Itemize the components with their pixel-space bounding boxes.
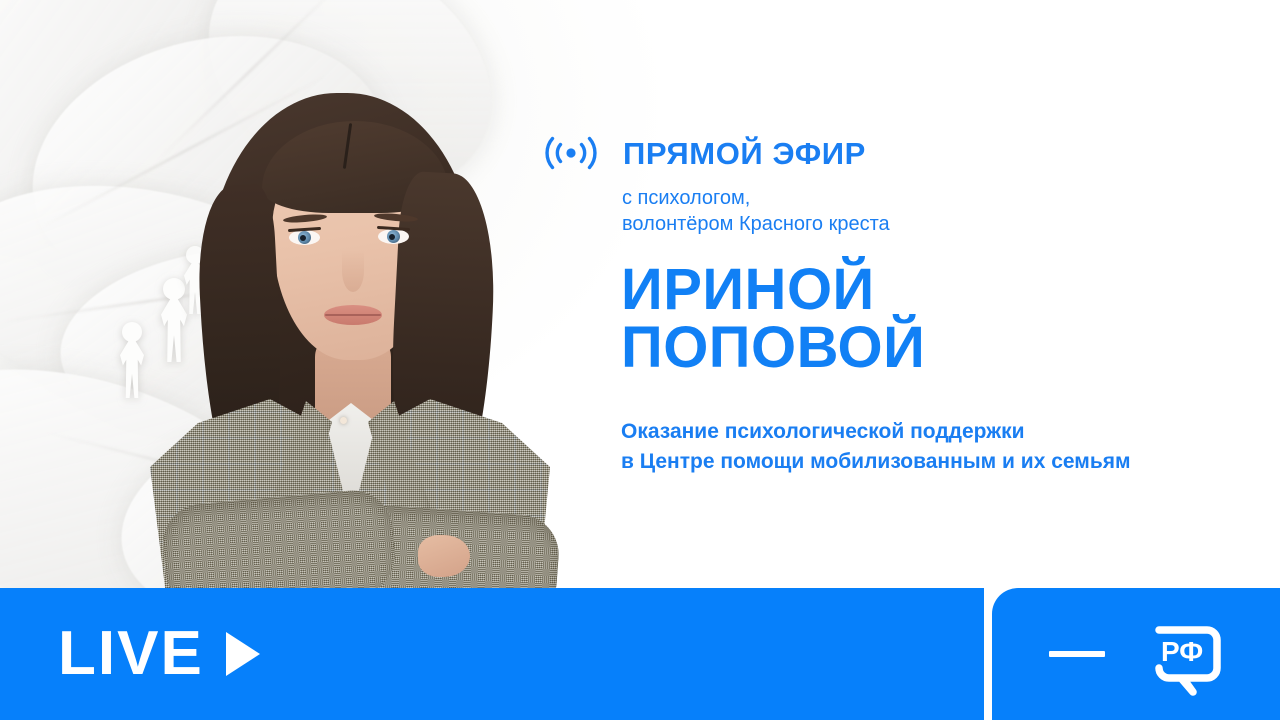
paper-figure-child	[122, 322, 142, 398]
play-triangle-icon[interactable]	[226, 632, 260, 676]
guest-role: с психологом, волонтёром Красного креста	[622, 185, 1263, 237]
guest-name-line-1: ИРИНОЙ	[621, 261, 1263, 319]
eye-left	[289, 230, 320, 245]
lip-line	[325, 314, 381, 316]
banner-divider	[984, 588, 992, 720]
event-description: Оказание психологической поддержки в Цен…	[621, 417, 1263, 477]
speech-bubble-rf-logo-icon: РФ	[1141, 606, 1237, 702]
hand	[418, 535, 470, 577]
logo-rf-text: РФ	[1161, 636, 1203, 667]
guest-name: ИРИНОЙ ПОПОВОЙ	[621, 261, 1263, 377]
guest-name-line-2: ПОПОВОЙ	[621, 319, 1263, 377]
bottom-live-banner: LIVE РФ	[0, 588, 1280, 720]
live-broadcast-title: ПРЯМОЙ ЭФИР	[623, 138, 866, 169]
eye-right	[378, 229, 409, 244]
event-description-line-2: в Центре помощи мобилизованным и их семь…	[621, 447, 1263, 477]
nose	[342, 250, 364, 292]
announcement-text-block: ПРЯМОЙ ЭФИР с психологом, волонтёром Кра…	[543, 133, 1263, 477]
guest-role-line-2: волонтёром Красного креста	[622, 211, 1263, 237]
live-banner-left-panel: LIVE	[0, 588, 984, 720]
broadcast-waves-icon	[543, 133, 599, 173]
brand-dash-icon	[1049, 651, 1105, 657]
live-heading-row: ПРЯМОЙ ЭФИР	[543, 133, 1263, 173]
broadcast-announcement-slide: ПРЯМОЙ ЭФИР с психологом, волонтёром Кра…	[0, 0, 1280, 720]
live-label: LIVE	[58, 623, 204, 685]
brand-logo-panel[interactable]: РФ	[992, 588, 1280, 720]
guest-portrait-photo	[150, 65, 550, 590]
event-description-line-1: Оказание психологической поддержки	[621, 417, 1263, 447]
necklace-pendant	[340, 417, 347, 424]
guest-role-line-1: с психологом,	[622, 185, 1263, 211]
